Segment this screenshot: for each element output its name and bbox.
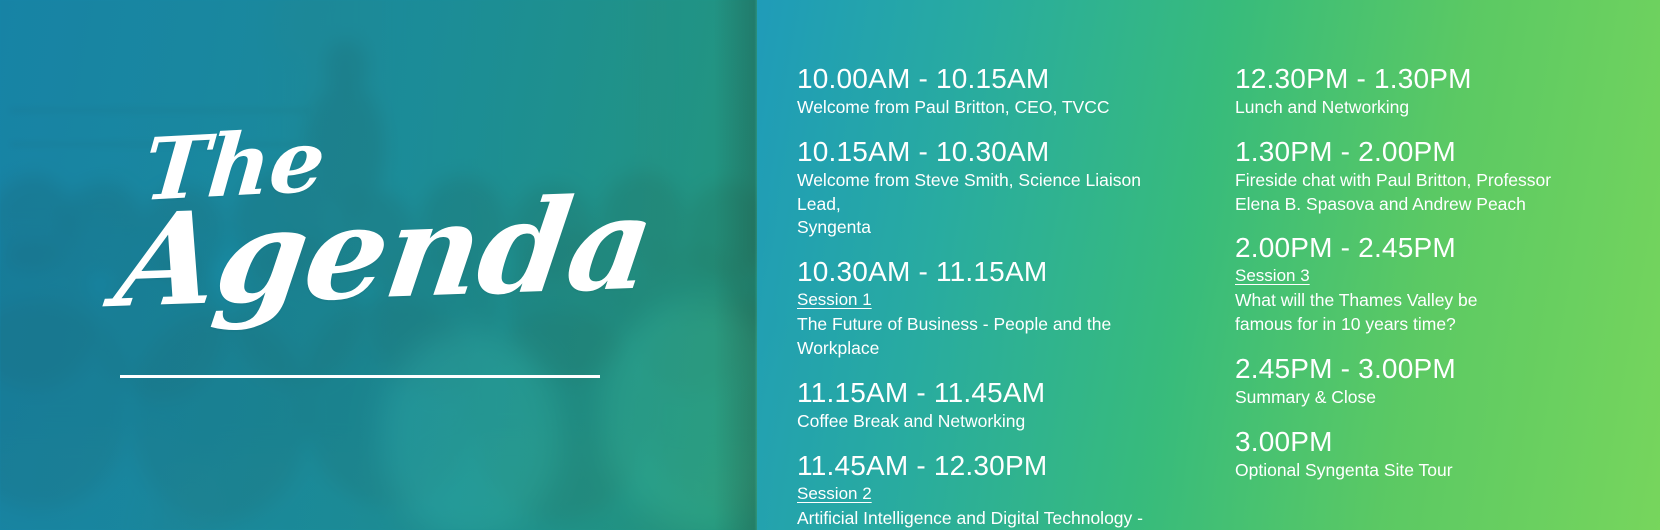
- agenda-item-session-label: Session 2: [797, 483, 872, 506]
- agenda-item-description: Coffee Break and Networking: [797, 410, 1187, 434]
- title-underline-rule: [120, 375, 600, 378]
- agenda-item-description: What will the Thames Valley be famous fo…: [1235, 289, 1625, 337]
- agenda-item-time: 2.45PM - 3.00PM: [1235, 352, 1625, 385]
- agenda-item: 11.45AM - 12.30PM Session 2 Artificial I…: [797, 449, 1187, 530]
- agenda-item: 2.45PM - 3.00PM Summary & Close: [1235, 352, 1625, 410]
- agenda-columns: 10.00AM - 10.15AM Welcome from Paul Brit…: [797, 62, 1614, 530]
- agenda-item-description: Fireside chat with Paul Britton, Profess…: [1235, 169, 1625, 217]
- agenda-item-description: Welcome from Steve Smith, Science Liaiso…: [797, 169, 1187, 240]
- agenda-item: 10.00AM - 10.15AM Welcome from Paul Brit…: [797, 62, 1187, 120]
- agenda-item-description: Optional Syngenta Site Tour: [1235, 459, 1625, 483]
- title-line-agenda: Agenda: [110, 184, 650, 322]
- agenda-item: 2.00PM - 2.45PM Session 3 What will the …: [1235, 231, 1625, 337]
- agenda-item: 12.30PM - 1.30PM Lunch and Networking: [1235, 62, 1625, 120]
- agenda-item-description: Welcome from Paul Britton, CEO, TVCC: [797, 96, 1187, 120]
- agenda-item: 3.00PM Optional Syngenta Site Tour: [1235, 425, 1625, 483]
- agenda-item-time: 2.00PM - 2.45PM: [1235, 231, 1625, 264]
- agenda-item: 10.30AM - 11.15AM Session 1 The Future o…: [797, 255, 1187, 361]
- agenda-item: 10.15AM - 10.30AM Welcome from Steve Smi…: [797, 135, 1187, 240]
- panel-seam: [714, 0, 758, 530]
- agenda-item: 11.15AM - 11.45AM Coffee Break and Netwo…: [797, 376, 1187, 434]
- agenda-item-time: 3.00PM: [1235, 425, 1625, 458]
- agenda-item-time: 12.30PM - 1.30PM: [1235, 62, 1625, 95]
- page-title: The Agenda: [120, 118, 640, 313]
- agenda-banner: The Agenda 10.00AM - 10.15AM Welcome fro…: [0, 0, 1660, 530]
- agenda-item-description: Lunch and Networking: [1235, 96, 1625, 120]
- agenda-column-morning: 10.00AM - 10.15AM Welcome from Paul Brit…: [797, 62, 1187, 530]
- agenda-item-time: 10.30AM - 11.15AM: [797, 255, 1187, 288]
- agenda-item-time: 1.30PM - 2.00PM: [1235, 135, 1625, 168]
- agenda-item-time: 10.00AM - 10.15AM: [797, 62, 1187, 95]
- agenda-column-afternoon: 12.30PM - 1.30PM Lunch and Networking 1.…: [1235, 62, 1625, 530]
- agenda-item-description: Artificial Intelligence and Digital Tech…: [797, 507, 1187, 530]
- agenda-item-description: The Future of Business - People and the …: [797, 313, 1187, 361]
- agenda-item-time: 11.45AM - 12.30PM: [797, 449, 1187, 482]
- agenda-item-session-label: Session 1: [797, 289, 872, 312]
- agenda-item-time: 11.15AM - 11.45AM: [797, 376, 1187, 409]
- agenda-item-description: Summary & Close: [1235, 386, 1625, 410]
- agenda-item: 1.30PM - 2.00PM Fireside chat with Paul …: [1235, 135, 1625, 217]
- agenda-item-session-label: Session 3: [1235, 265, 1310, 288]
- agenda-item-time: 10.15AM - 10.30AM: [797, 135, 1187, 168]
